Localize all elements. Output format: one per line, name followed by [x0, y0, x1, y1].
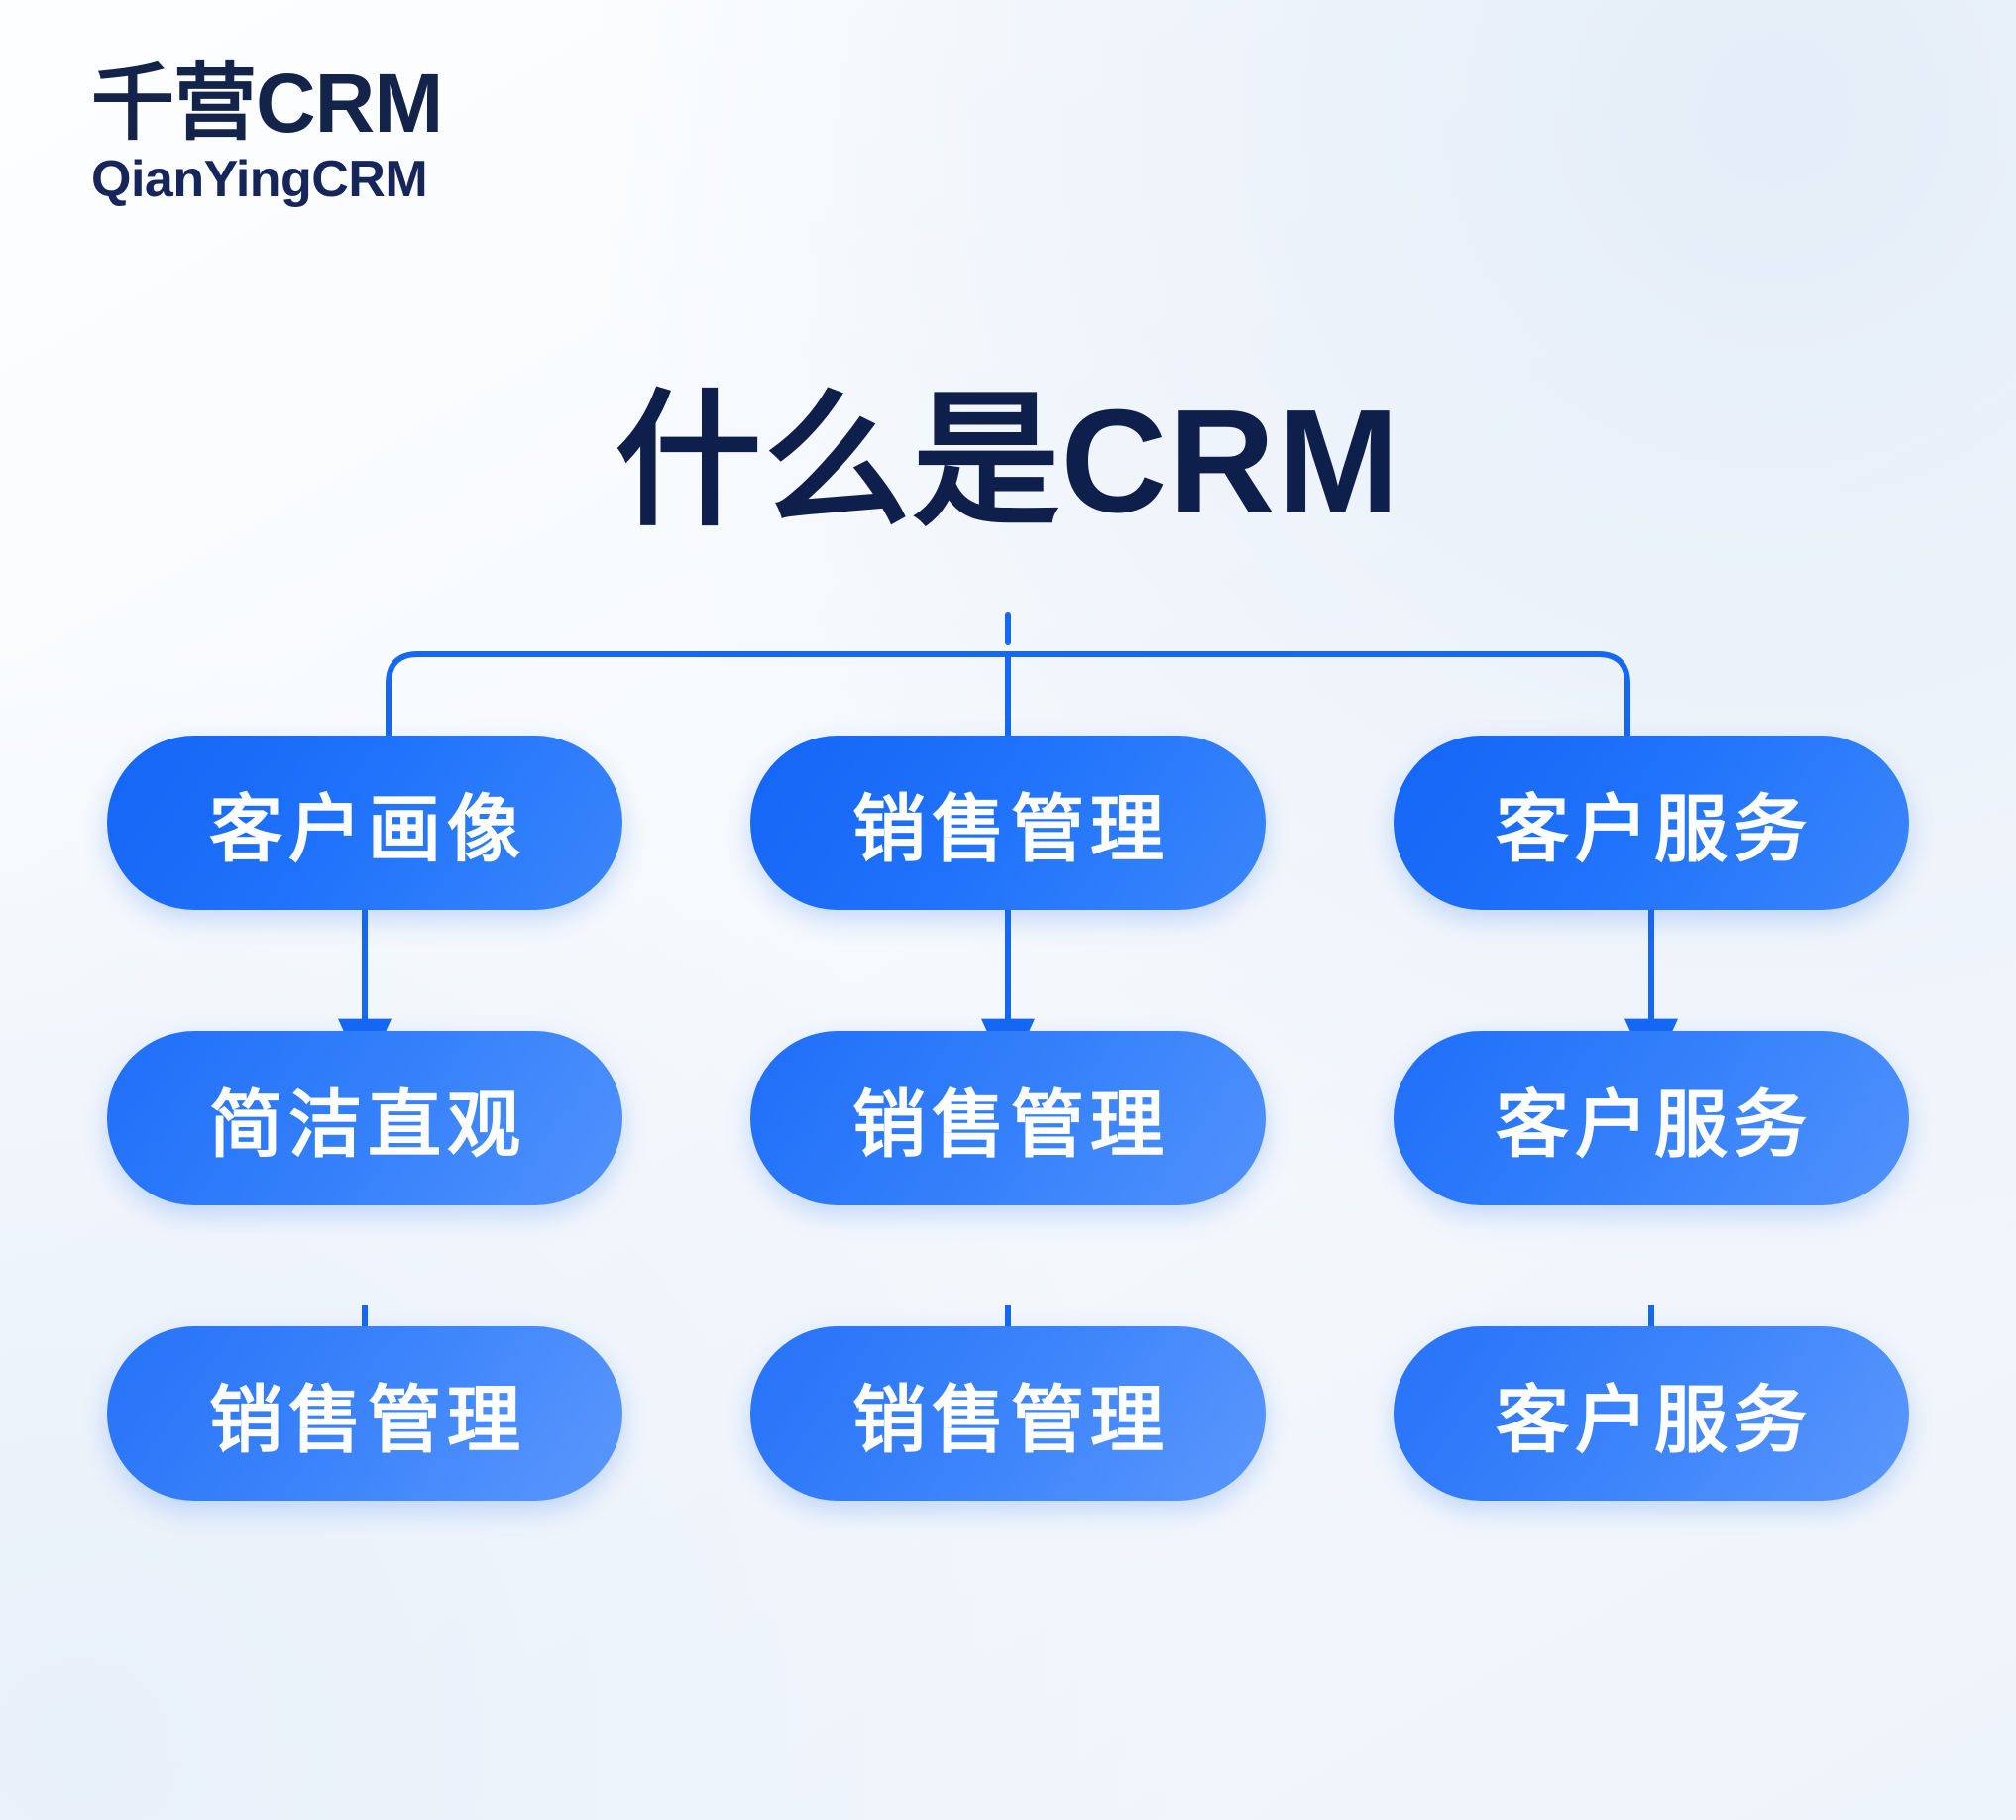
flow-column-3: 客户服务 客户服务 客户服务 [1394, 736, 1909, 1501]
flow-node-col3-row1[interactable]: 客户服务 [1394, 736, 1909, 910]
flow-node-col2-row2[interactable]: 销售管理 [750, 1031, 1266, 1205]
flow-node-col1-row1[interactable]: 客户画像 [107, 736, 622, 910]
flow-node-col1-row2[interactable]: 简洁直观 [107, 1031, 622, 1205]
flow-columns: 客户画像 简洁直观 销售管理 销售管理 销售管理 销售管理 客户服务 客户服务 … [107, 736, 1909, 1501]
flow-column-1: 客户画像 简洁直观 销售管理 [107, 736, 622, 1501]
arrow-gap [107, 1205, 622, 1326]
flow-node-col2-row1[interactable]: 销售管理 [750, 736, 1266, 910]
flow-node-col1-row3[interactable]: 销售管理 [107, 1326, 622, 1501]
arrow-gap [750, 1205, 1266, 1326]
flow-node-col2-row3[interactable]: 销售管理 [750, 1326, 1266, 1501]
flow-column-2: 销售管理 销售管理 销售管理 [750, 736, 1266, 1501]
flow-node-col3-row2[interactable]: 客户服务 [1394, 1031, 1909, 1205]
arrow-gap [1394, 910, 1909, 1031]
arrow-gap [750, 910, 1266, 1031]
flow-node-col3-row3[interactable]: 客户服务 [1394, 1326, 1909, 1501]
arrow-gap [1394, 1205, 1909, 1326]
bracket-connector [389, 615, 1627, 736]
arrow-gap [107, 910, 622, 1031]
